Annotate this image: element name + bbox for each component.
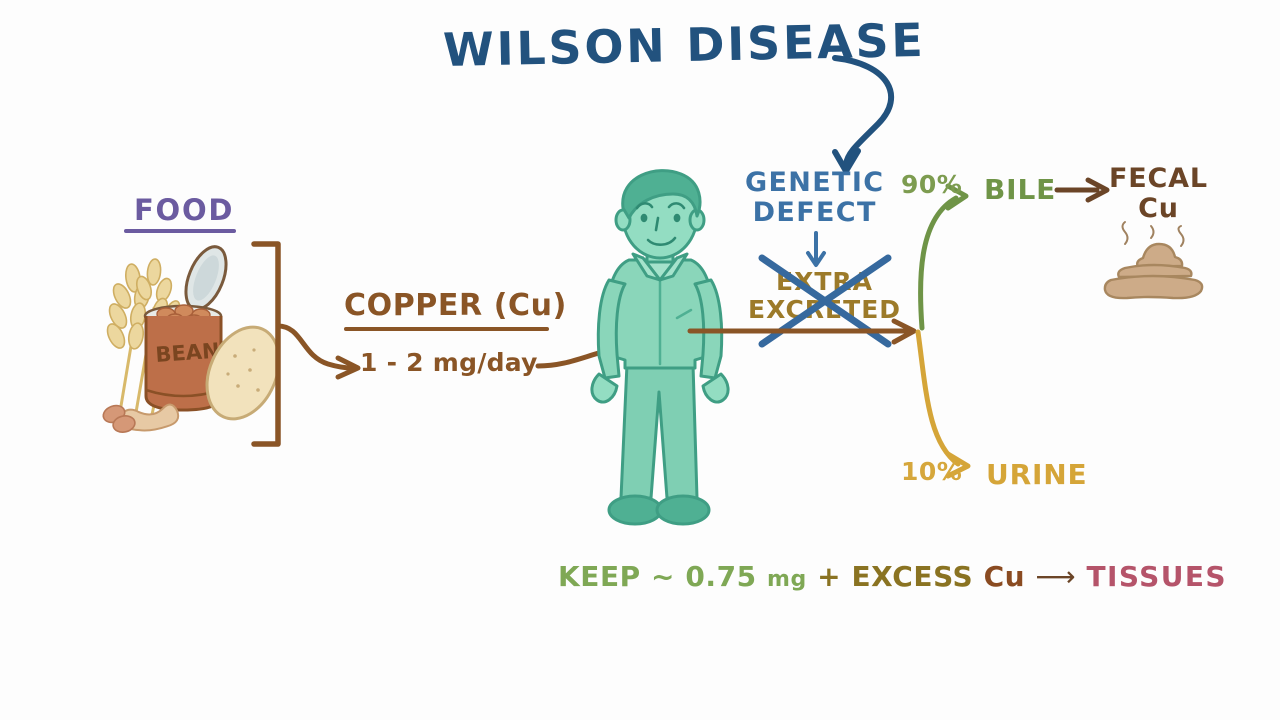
person-illustration-icon <box>585 168 765 553</box>
food-underline <box>124 229 236 233</box>
excess-label: + EXCESS <box>817 560 973 593</box>
keep-unit-label: mg <box>767 567 807 592</box>
bile-label: BILE <box>984 176 1056 204</box>
genetic-defect-line1: GENETIC <box>745 168 884 198</box>
fecal-label: FECAL Cu <box>1109 164 1208 224</box>
diagram-canvas: WILSON DISEASE FOOD <box>0 0 1280 720</box>
genetic-defect-line2: DEFECT <box>745 198 884 228</box>
food-label: FOOD <box>134 196 234 225</box>
equation-arrow-icon: ⟶ <box>1036 560 1077 593</box>
tissues-label: TISSUES <box>1087 560 1227 593</box>
food-to-copper-arrow-icon <box>276 322 366 382</box>
copper-label: COPPER (Cu) <box>344 291 567 321</box>
genetic-defect-label: GENETIC DEFECT <box>745 168 884 228</box>
copper-underline <box>344 327 549 331</box>
bottom-equation: KEEP ~ 0.75 mg + EXCESS Cu ⟶ TISSUES <box>558 563 1227 591</box>
excess-cu-label: Cu <box>984 560 1026 593</box>
stool-illustration-icon <box>1095 222 1210 302</box>
bile-percent-label: 90% <box>901 172 962 197</box>
copper-dose-label: 1 - 2 mg/day <box>360 350 538 375</box>
fecal-line2: Cu <box>1109 194 1208 224</box>
keep-amount-label: KEEP ~ 0.75 <box>558 560 757 593</box>
fecal-line1: FECAL <box>1109 164 1208 194</box>
bile-to-fecal-arrow-icon <box>1055 176 1115 204</box>
title-to-defect-arrow-icon <box>830 52 940 172</box>
urine-percent-label: 10% <box>901 459 962 484</box>
urine-label: URINE <box>986 461 1087 489</box>
person-to-split-arrow-icon <box>688 315 928 345</box>
bile-branch-arrow-icon <box>908 178 988 330</box>
